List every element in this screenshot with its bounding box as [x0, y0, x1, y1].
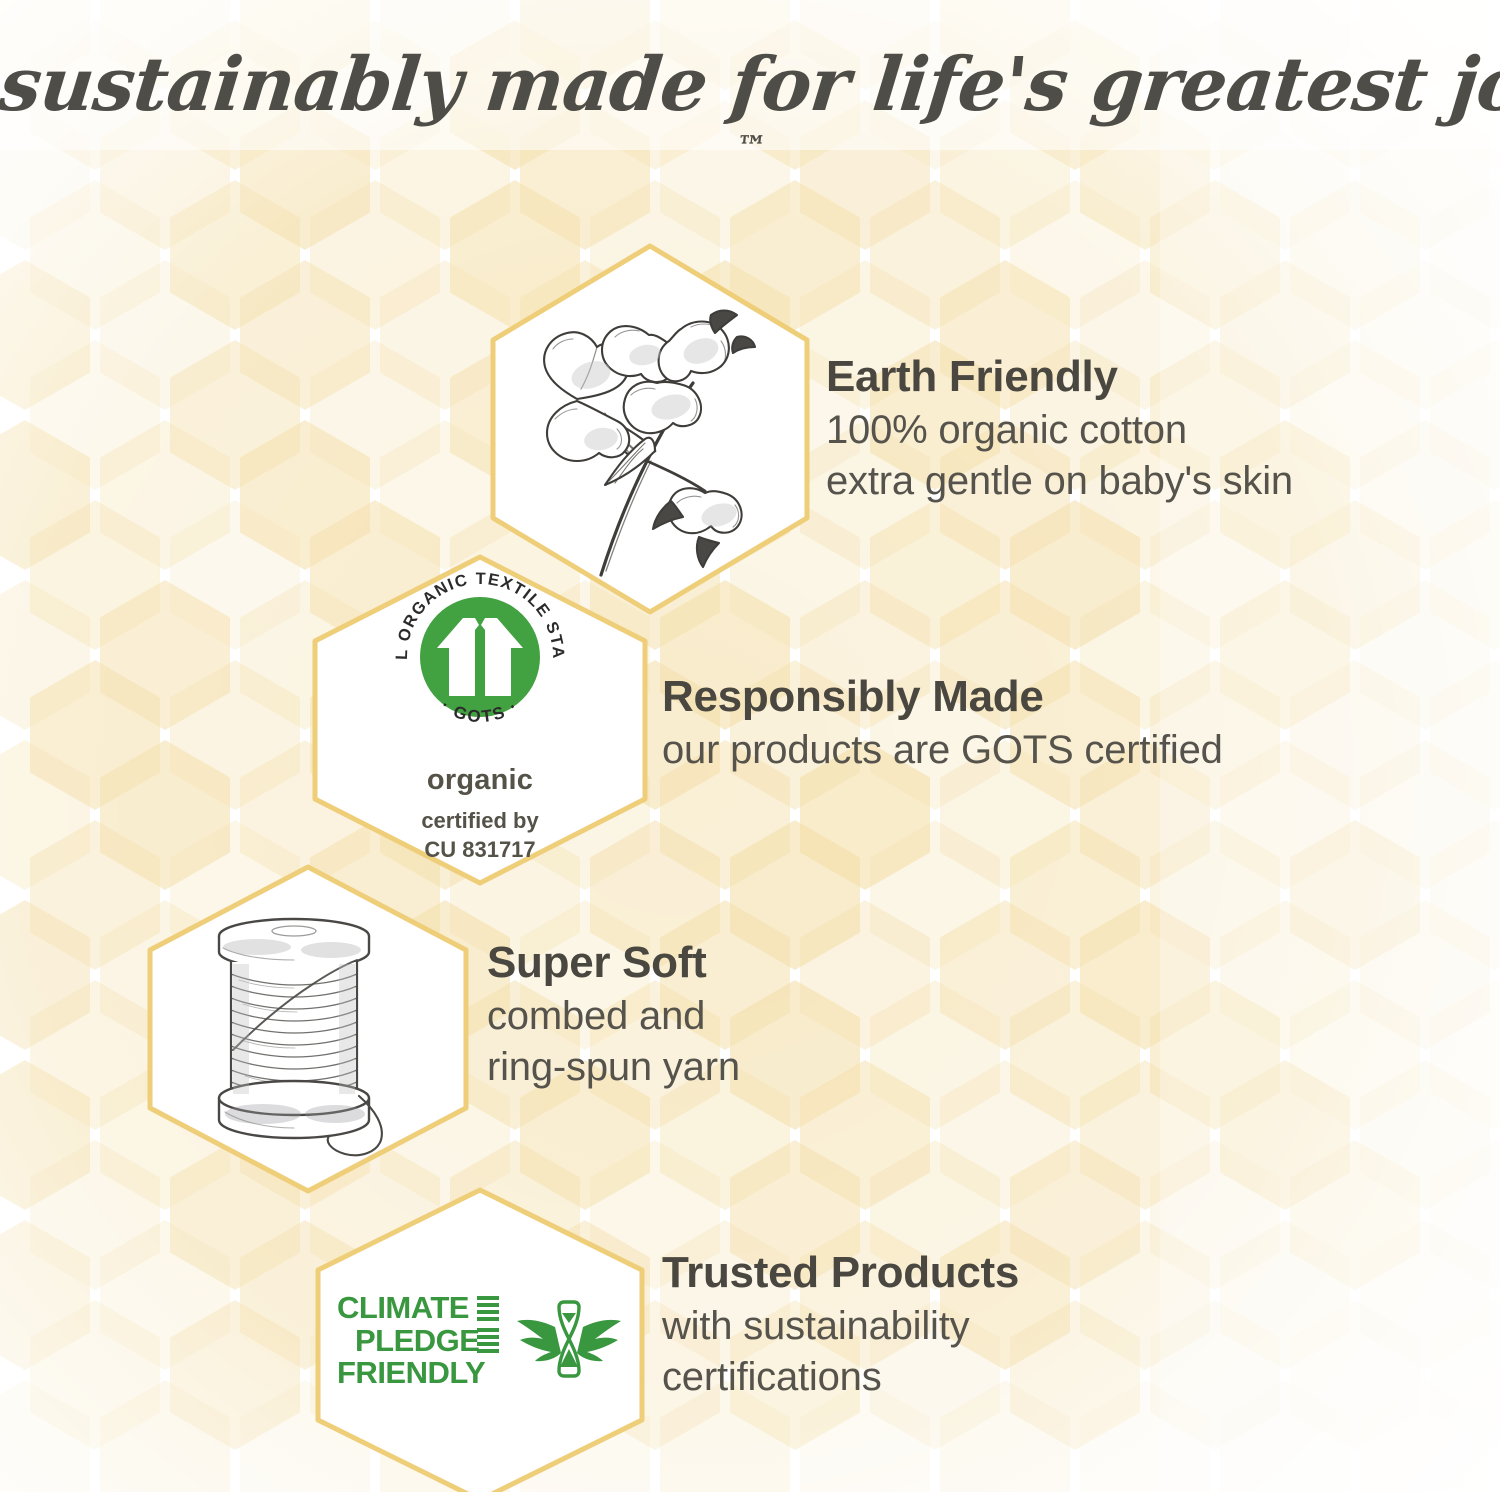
gots-badge: GLOBAL ORGANIC TEXTILE STANDARD · GOTS ·… — [387, 564, 573, 863]
hex-card-super-soft — [145, 862, 471, 1196]
feature-title-super-soft: Super Soft — [487, 938, 740, 987]
cpf-line-climate: CLIMATE — [337, 1292, 499, 1325]
cpf-word-climate: CLIMATE — [337, 1292, 474, 1325]
gots-certified-by: certified by CU 831717 — [421, 807, 538, 863]
feature-title-responsibly-made: Responsibly Made — [662, 672, 1223, 721]
cpf-bars-icon — [477, 1328, 499, 1353]
page-headline: sustainably made for life's greatest joy… — [0, 42, 1500, 165]
hex-inner-responsibly-made: GLOBAL ORGANIC TEXTILE STANDARD · GOTS ·… — [310, 552, 650, 888]
feature-title-earth-friendly: Earth Friendly — [826, 352, 1293, 401]
hex-card-trusted-products: CLIMATE PLEDGE FRIENDLY — [313, 1185, 647, 1492]
gots-certifier-code: CU 831717 — [421, 836, 538, 864]
thread-spool-sketch-icon — [179, 900, 429, 1162]
feature-line: extra gentle on baby's skin — [826, 456, 1293, 507]
feature-title-trusted-products: Trusted Products — [662, 1248, 1019, 1297]
feature-line: with sustainability — [662, 1301, 1019, 1352]
hex-inner-super-soft — [145, 862, 471, 1196]
gots-certified-by-label: certified by — [421, 807, 538, 835]
cotton-branch-sketch-icon — [505, 279, 795, 579]
hex-card-responsibly-made: GLOBAL ORGANIC TEXTILE STANDARD · GOTS ·… — [310, 552, 650, 888]
cpf-wordmark: CLIMATE PLEDGE FRIENDLY — [337, 1292, 499, 1391]
feature-text-trusted-products: Trusted Products with sustainability cer… — [662, 1248, 1019, 1404]
gots-organic-label: organic — [427, 764, 533, 797]
headline-text: sustainably made for life's greatest joy — [0, 42, 1500, 128]
cpf-bars-icon — [477, 1296, 499, 1321]
feature-text-earth-friendly: Earth Friendly 100% organic cotton extra… — [826, 352, 1293, 508]
feature-line: combed and — [487, 991, 740, 1042]
hex-inner-trusted-products: CLIMATE PLEDGE FRIENDLY — [313, 1185, 647, 1492]
feature-text-responsibly-made: Responsibly Made our products are GOTS c… — [662, 672, 1223, 776]
feature-line: our products are GOTS certified — [662, 725, 1223, 776]
gots-organic-certification-icon: GLOBAL ORGANIC TEXTILE STANDARD · GOTS · — [387, 564, 573, 750]
feature-line: ring-spun yarn — [487, 1042, 740, 1093]
cpf-line-pledge: PLEDGE — [337, 1325, 499, 1358]
cpf-word-pledge: PLEDGE — [355, 1325, 474, 1358]
cpf-line-friendly: FRIENDLY — [337, 1357, 485, 1390]
cpf-word-friendly: FRIENDLY — [337, 1357, 485, 1390]
feature-text-super-soft: Super Soft combed and ring-spun yarn — [487, 938, 740, 1094]
climate-pledge-friendly-icon: CLIMATE PLEDGE FRIENDLY — [337, 1292, 623, 1391]
trademark-symbol: ™ — [734, 130, 768, 165]
feature-line: 100% organic cotton — [826, 405, 1293, 456]
winged-hourglass-icon — [515, 1299, 623, 1383]
feature-line: certifications — [662, 1352, 1019, 1403]
sustainability-infographic: sustainably made for life's greatest joy… — [0, 0, 1500, 1492]
